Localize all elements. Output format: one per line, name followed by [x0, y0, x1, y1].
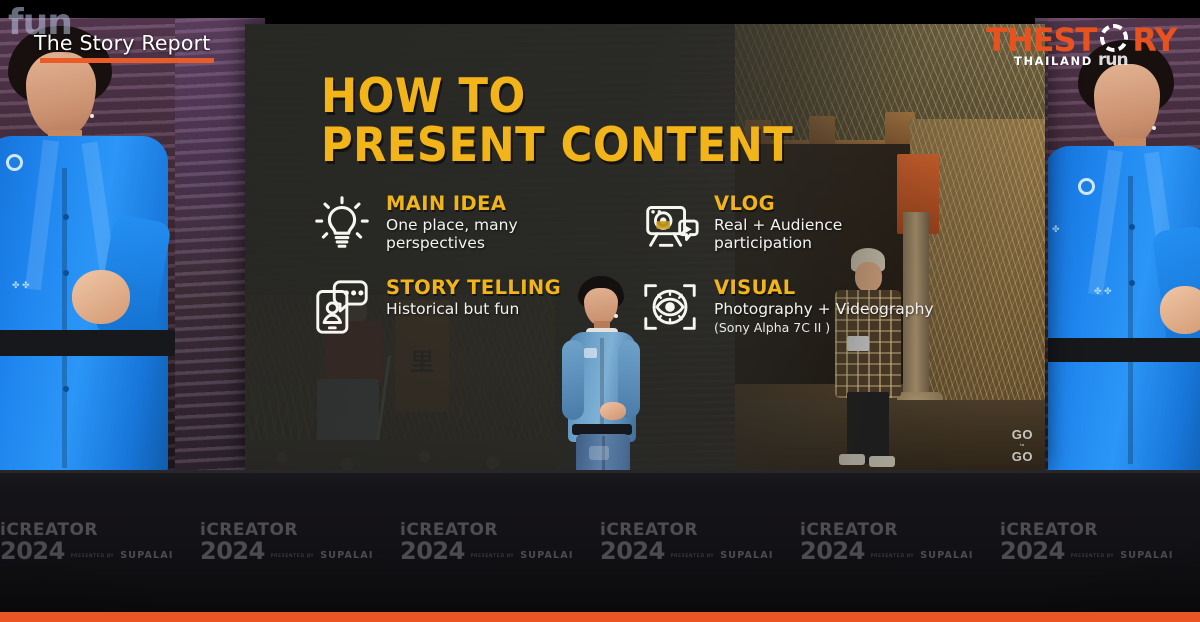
presenter-mic [614, 314, 618, 318]
presenter-figure-right: ✤ ✤ ✤ [1048, 18, 1200, 473]
logo-overlap-run-text: run [1098, 50, 1156, 76]
figure-belt [1048, 338, 1200, 362]
stage-brand-unit: iCREATOR 2024 presented by SUPALAI [400, 522, 600, 563]
stage-brand-unit: iCREATOR 2024 presented by SUPALAI [0, 522, 200, 563]
brand-sponsor: SUPALAI [920, 551, 973, 563]
brand-sponsor: SUPALAI [720, 551, 773, 563]
presenter-hands [600, 402, 626, 420]
brand-year: 2024 [800, 539, 865, 563]
brand-icreator-label: iCREATOR [1000, 522, 1200, 539]
figure-mic [90, 114, 94, 118]
bottom-accent-bar [0, 612, 1200, 622]
presenter-jacket-placket [600, 338, 604, 436]
brand-icreator-label: iCREATOR [200, 522, 400, 539]
figure-placket [62, 168, 67, 468]
presenter-left-arm [562, 340, 584, 420]
stage-branding-strip: iCREATOR 2024 presented by SUPALAI iCREA… [0, 512, 1200, 572]
brand-icreator-label: iCREATOR [800, 522, 1000, 539]
brand-icreator-label: iCREATOR [400, 522, 600, 539]
phone-chat-icon [311, 276, 373, 338]
brand-presented-by: presented by [71, 555, 114, 563]
bullet-desc: Historical but fun [386, 301, 561, 319]
brand-year: 2024 [1000, 539, 1065, 563]
bullet-visual: VISUAL Photography + Videography (Sony A… [639, 276, 939, 338]
lightbulb-icon [311, 192, 373, 254]
figure-placket [1128, 176, 1133, 464]
figure-button [1129, 280, 1135, 286]
page-title: The Story Report [34, 31, 210, 55]
bullet-main-idea: MAIN IDEA One place, many perspectives [311, 192, 611, 254]
bullet-title: MAIN IDEA [386, 192, 506, 215]
brand-year: 2024 [0, 539, 65, 563]
slide-headline: HOW TO PRESENT CONTENT [321, 72, 793, 170]
bullet-desc: Real + Audience participation [714, 217, 939, 252]
thestory-thailand-logo[interactable]: THEST RY run THAILAND [986, 20, 1192, 78]
stage-brand-unit: iCREATOR 2024 presented by SUPALAI [800, 522, 1000, 563]
figure-button [63, 214, 69, 220]
stage-brand-unit: iCREATOR 2024 presented by SUPALAI [200, 522, 400, 563]
figure-button [1129, 224, 1135, 230]
stage-brand-unit: iCREATOR 2024 presented by SUPALAI [1000, 522, 1200, 563]
brand-year: 2024 [600, 539, 665, 563]
brand-icreator-label: iCREATOR [0, 522, 200, 539]
brand-year: 2024 [200, 539, 265, 563]
figure-hands [72, 270, 130, 324]
bullet-vlog: VLOG Real + Audience participation [639, 192, 939, 254]
figure-hands [1160, 286, 1200, 334]
figure-embroidery: ✤ [1052, 224, 1060, 235]
bullet-desc: One place, many perspectives [386, 217, 611, 252]
bullet-title: VLOG [714, 192, 775, 215]
brand-presented-by: presented by [671, 555, 714, 563]
presenter-pocket-logo [589, 446, 609, 460]
stage-brand-unit: iCREATOR 2024 presented by SUPALAI [600, 522, 800, 563]
brand-sponsor: SUPALAI [520, 551, 573, 563]
conference-stage-scene: ✤ ✤ ✤ ✤ ✤ [0, 0, 1200, 622]
figure-badge [6, 154, 23, 171]
eye-frame-icon [639, 276, 701, 338]
figure-button [63, 270, 69, 276]
brand-presented-by: presented by [871, 555, 914, 563]
figure-belt [0, 330, 175, 356]
figure-badge [1078, 178, 1095, 195]
logo-country-label: THAILAND [1014, 54, 1093, 68]
bullet-title: VISUAL [714, 276, 796, 299]
brand-sponsor: SUPALAI [320, 551, 373, 563]
slide-headline-line1: HOW TO [321, 69, 526, 124]
slide-bullet-grid: MAIN IDEA One place, many perspectives [311, 192, 1001, 338]
bullet-note: (Sony Alpha 7C II ) [714, 320, 934, 335]
figure-embroidery: ✤ ✤ [12, 280, 30, 291]
brand-year: 2024 [400, 539, 465, 563]
slide-headline-line2: PRESENT CONTENT [321, 121, 793, 170]
bullet-desc: Photography + Videography [714, 301, 934, 319]
bullet-title: STORY TELLING [386, 276, 561, 299]
brand-presented-by: presented by [471, 555, 514, 563]
led-panel-right-presenter-closeup: ✤ ✤ ✤ [1048, 18, 1200, 473]
camera-play-icon [639, 192, 701, 254]
title-underline [40, 58, 214, 63]
brand-icreator-label: iCREATOR [600, 522, 800, 539]
brand-sponsor: SUPALAI [120, 551, 173, 563]
led-panel-left-presenter-closeup: ✤ ✤ [0, 18, 175, 473]
brand-presented-by: presented by [1071, 555, 1114, 563]
brand-sponsor: SUPALAI [1120, 551, 1173, 563]
presenter-figure-left: ✤ ✤ [0, 18, 175, 473]
figure-mic [1152, 126, 1156, 130]
brand-presented-by: presented by [271, 555, 314, 563]
stage-front-riser: iCREATOR 2024 presented by SUPALAI iCREA… [0, 470, 1200, 612]
figure-embroidery: ✤ ✤ [1094, 286, 1112, 297]
figure-button [63, 386, 69, 392]
presenter-badge [584, 348, 597, 358]
